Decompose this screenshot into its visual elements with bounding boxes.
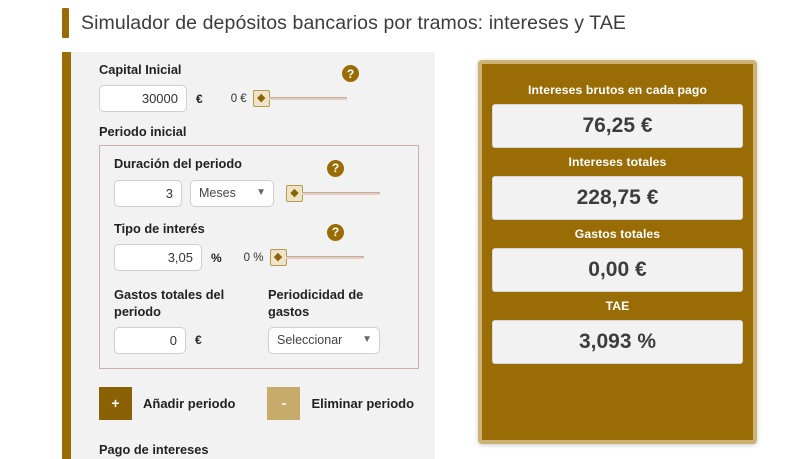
remove-period-button[interactable]: - [267, 387, 300, 420]
expenses-frequency-select-wrap: Seleccionar ▼ [268, 327, 380, 354]
period-buttons-row: + Añadir periodo - Eliminar periodo [99, 387, 419, 420]
duration-slider-group: ◆ [286, 185, 380, 202]
expenses-row: Gastos totales del periodo € Periodicida… [114, 287, 404, 354]
duration-label: Duración del periodo [114, 156, 242, 172]
title-accent-bar [62, 8, 69, 38]
results-panel: Intereses brutos en cada pago 76,25 € In… [478, 60, 757, 444]
period-section-label: Periodo inicial [99, 124, 419, 139]
duration-slider[interactable]: ◆ [286, 185, 380, 202]
result-label: Gastos totales [492, 220, 743, 248]
expenses-input-row: € [114, 327, 242, 354]
expenses-frequency-label: Periodicidad de gastos [268, 287, 388, 320]
expenses-col: Gastos totales del periodo € [114, 287, 242, 354]
remove-period-label[interactable]: Eliminar periodo [311, 396, 414, 411]
duration-input[interactable] [114, 180, 182, 207]
interest-input[interactable] [114, 244, 202, 271]
slider-handle-icon[interactable]: ◆ [286, 185, 303, 202]
expenses-label: Gastos totales del periodo [114, 287, 242, 320]
result-value: 76,25 € [492, 104, 743, 148]
capital-input[interactable] [99, 85, 187, 112]
interest-slider-group: 0 % ◆ [244, 249, 364, 266]
capital-unit: € [196, 92, 203, 106]
add-period-button[interactable]: + [99, 387, 132, 420]
period-group-box: Duración del periodo ? Meses ▼ ◆ [99, 145, 419, 369]
result-item: Intereses brutos en cada pago 76,25 € [492, 76, 743, 148]
capital-label-row: Capital Inicial ? [99, 62, 419, 85]
duration-slider-track[interactable] [302, 192, 380, 195]
help-icon-interest[interactable]: ? [327, 224, 344, 241]
result-label: Intereses brutos en cada pago [492, 76, 743, 104]
interest-slider-track[interactable] [286, 256, 364, 259]
interest-payment-label: Pago de intereses [99, 442, 419, 457]
result-value: 0,00 € [492, 248, 743, 292]
page-title: Simulador de depósitos bancarios por tra… [81, 12, 626, 35]
capital-label: Capital Inicial [99, 62, 182, 78]
expenses-input[interactable] [114, 327, 186, 354]
simulator-page: Simulador de depósitos bancarios por tra… [0, 0, 800, 459]
capital-slider-min-label: 0 € [231, 93, 247, 105]
interest-unit: % [211, 251, 222, 265]
interest-label: Tipo de interés [114, 221, 205, 237]
slider-handle-icon[interactable]: ◆ [253, 90, 270, 107]
capital-slider-track[interactable] [269, 97, 347, 100]
slider-handle-icon[interactable]: ◆ [270, 249, 287, 266]
capital-slider-group: 0 € ◆ [231, 90, 347, 107]
help-icon-capital[interactable]: ? [342, 65, 359, 82]
result-value: 228,75 € [492, 176, 743, 220]
result-label: TAE [492, 292, 743, 320]
interest-row: % 0 % ◆ [114, 244, 404, 271]
result-value: 3,093 % [492, 320, 743, 364]
help-icon-duration[interactable]: ? [327, 160, 344, 177]
capital-slider[interactable]: ◆ [253, 90, 347, 107]
result-item: Intereses totales 228,75 € [492, 148, 743, 220]
interest-slider-min-label: 0 % [244, 252, 264, 264]
expenses-frequency-select[interactable]: Seleccionar [268, 327, 380, 354]
duration-unit-select[interactable]: Meses [190, 180, 274, 207]
interest-slider[interactable]: ◆ [270, 249, 364, 266]
duration-label-row: Duración del periodo ? [114, 156, 404, 179]
result-item: TAE 3,093 % [492, 292, 743, 364]
expenses-unit: € [195, 333, 202, 347]
page-title-row: Simulador de depósitos bancarios por tra… [62, 8, 626, 38]
result-item: Gastos totales 0,00 € [492, 220, 743, 292]
add-period-label[interactable]: Añadir periodo [143, 396, 235, 411]
duration-row: Meses ▼ ◆ [114, 180, 404, 207]
expenses-frequency-col: Periodicidad de gastos Seleccionar ▼ [268, 287, 388, 354]
result-label: Intereses totales [492, 148, 743, 176]
capital-row: € 0 € ◆ [99, 85, 419, 112]
duration-unit-select-wrap: Meses ▼ [190, 180, 274, 207]
form-panel: Capital Inicial ? € 0 € ◆ Periodo inicia… [62, 52, 435, 459]
interest-label-row: Tipo de interés ? [114, 221, 404, 244]
